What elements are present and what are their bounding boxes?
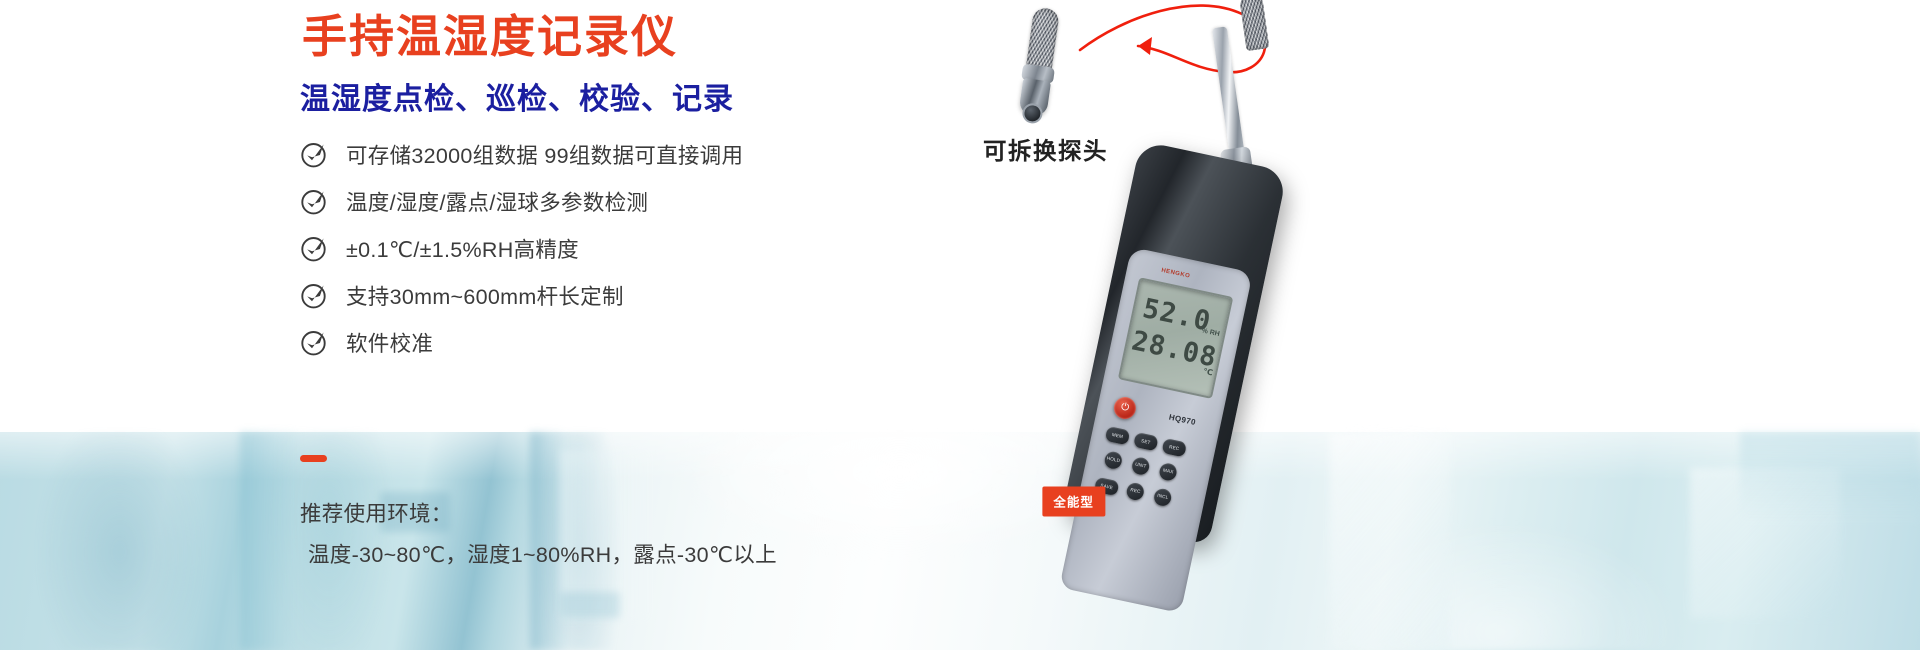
check-circle-icon [300,141,327,168]
product-banner: 手持温湿度记录仪 温湿度点检、巡检、校验、记录 可存储32000组数据 99组数… [0,0,1920,650]
status-badge: 全能型 [1042,486,1105,516]
probe-label: 可拆换探头 [983,132,1108,166]
list-item: 支持30mm~600mm杆长定制 [300,272,950,319]
banner-subtitle: 温湿度点检、巡检、校验、记录 [300,82,734,117]
key-rec-2[interactable]: REC [1125,481,1145,501]
thermo-hygrometer-device: HENGKO 52.0 % RH 28.08 ℃ ⏻ HQ970 MEM SET… [1061,54,1305,545]
copy-block: 手持温湿度记录仪 温湿度点检、巡检、校验、记录 可存储32000组数据 99组数… [0,0,980,650]
brand-logo: HENGKO [1161,268,1191,280]
power-button[interactable]: ⏻ [1112,395,1138,421]
list-item-label: 支持30mm~600mm杆长定制 [346,280,624,311]
list-item: ±0.1℃/±1.5%RH高精度 [300,225,950,272]
key-mem[interactable]: MEM [1105,426,1131,445]
device-front-panel: HENGKO 52.0 % RH 28.08 ℃ ⏻ HQ970 MEM SET… [1059,247,1253,613]
usage-note-heading: 推荐使用环境： [300,494,1000,535]
usage-note-detail: 温度-30~80℃，湿度1~80%RH，露点-30℃以上 [300,535,1000,576]
key-unit[interactable]: UNIT [1131,456,1151,476]
list-item-label: 可存储32000组数据 99组数据可直接调用 [346,139,743,170]
check-circle-icon [300,235,327,262]
key-rec[interactable]: REC [1161,438,1187,457]
product-image-group: 可拆换探头 HENGKO 52.0 % RH 28.08 ℃ ⏻ HQ970 [950,0,1920,650]
feature-list: 可存储32000组数据 99组数据可直接调用 温度/湿度/露点/湿球多参数检测 [300,131,950,366]
banner-title: 手持温湿度记录仪 [302,12,678,62]
list-item-label: ±0.1℃/±1.5%RH高精度 [346,233,579,264]
check-circle-icon [300,188,327,215]
list-item-label: 软件校准 [346,327,433,358]
list-item: 可存储32000组数据 99组数据可直接调用 [300,131,950,178]
device-body: HENGKO 52.0 % RH 28.08 ℃ ⏻ HQ970 MEM SET… [1061,141,1287,546]
key-hold[interactable]: HOLD [1103,450,1123,470]
check-circle-icon [300,282,327,309]
list-item: 温度/湿度/露点/湿球多参数检测 [300,178,950,225]
key-set[interactable]: SET [1133,432,1159,451]
lcd-screen: 52.0 % RH 28.08 ℃ [1118,277,1234,399]
model-number: HQ970 [1168,413,1197,427]
temperature-unit: ℃ [1202,367,1213,378]
list-item-label: 温度/湿度/露点/湿球多参数检测 [346,186,648,217]
list-item: 软件校准 [300,319,950,366]
check-circle-icon [300,329,327,356]
usage-note: 推荐使用环境： 温度-30~80℃，湿度1~80%RH，露点-30℃以上 [300,455,1000,576]
red-dash-divider [300,455,327,462]
key-incl[interactable]: INCL [1153,487,1173,507]
key-max[interactable]: MAX [1158,462,1178,482]
